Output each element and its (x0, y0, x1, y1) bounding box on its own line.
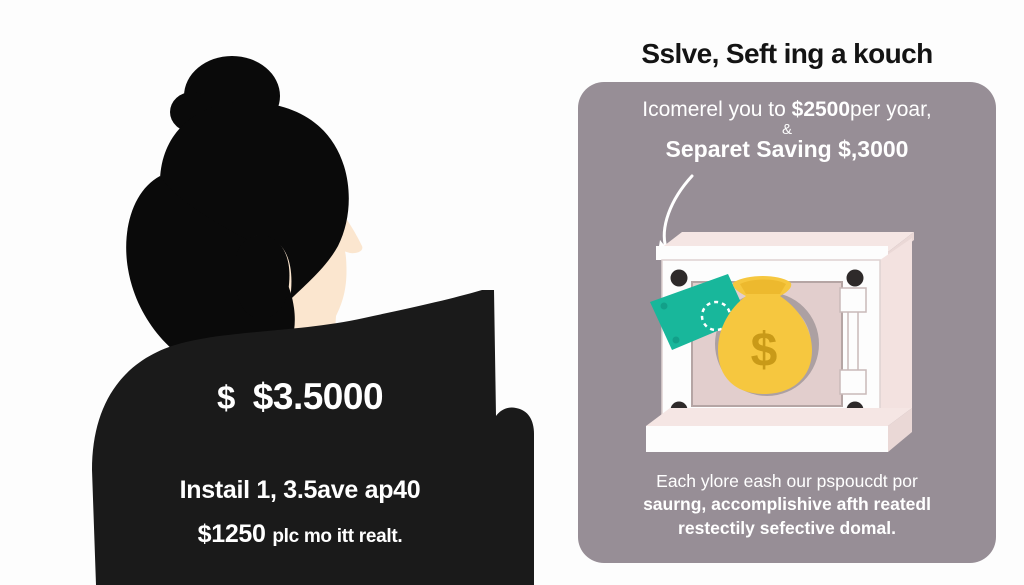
card-subtitle-line-2: Separet Saving $,3000 (586, 137, 988, 163)
safe-base-front (646, 426, 888, 452)
left-illustration-panel: $ $3.5000 Instail 1, 3.5ave ap40 $1250 p… (0, 0, 560, 585)
subtitle-trail: per yoar, (850, 98, 932, 121)
savings-card: Icomerel you to $2500per yoar, & Separet… (578, 82, 996, 563)
footer-line-2: saurng, accomplishive afth reatedl (600, 493, 974, 517)
poster-canvas: $ $3.5000 Instail 1, 3.5ave ap40 $1250 p… (0, 0, 1024, 585)
safe-bolt-top-right (847, 270, 864, 287)
cash-bill-dot-1 (661, 303, 668, 310)
card-footer: Each ylore eash our pspoucdt por saurng,… (578, 470, 996, 541)
footer-line-1: Each ylore eash our pspoucdt por (600, 470, 974, 494)
safe-illustration: $ (630, 170, 960, 460)
safe-bolt-top-left (671, 270, 688, 287)
subtitle-highlight: $2500 (792, 98, 850, 121)
money-bag-dollar-icon: $ (751, 324, 778, 377)
sideburn-shape (236, 235, 289, 318)
safe-base-top-face (646, 408, 912, 426)
safe-handle-top-knob (840, 288, 866, 312)
card-subtitle: Icomerel you to $2500per yoar, & Separet… (578, 98, 996, 163)
card-subtitle-line-1: Icomerel you to $2500per yoar, (642, 98, 932, 121)
money-bag-tie (740, 280, 786, 295)
subtitle-lead: Icomerel you to (642, 98, 791, 121)
safe-right-side-face (880, 238, 912, 426)
footer-line-3: restectily sefective domal. (600, 517, 974, 541)
safe-top-lip (656, 246, 888, 260)
page-title: Sslve, Seft ing a kouch (578, 38, 996, 70)
safe-svg: $ (630, 170, 960, 460)
cash-bill-dot-2 (673, 337, 680, 344)
safe-handle-bottom-knob (840, 370, 866, 394)
woman-silhouette-illustration (0, 0, 560, 585)
